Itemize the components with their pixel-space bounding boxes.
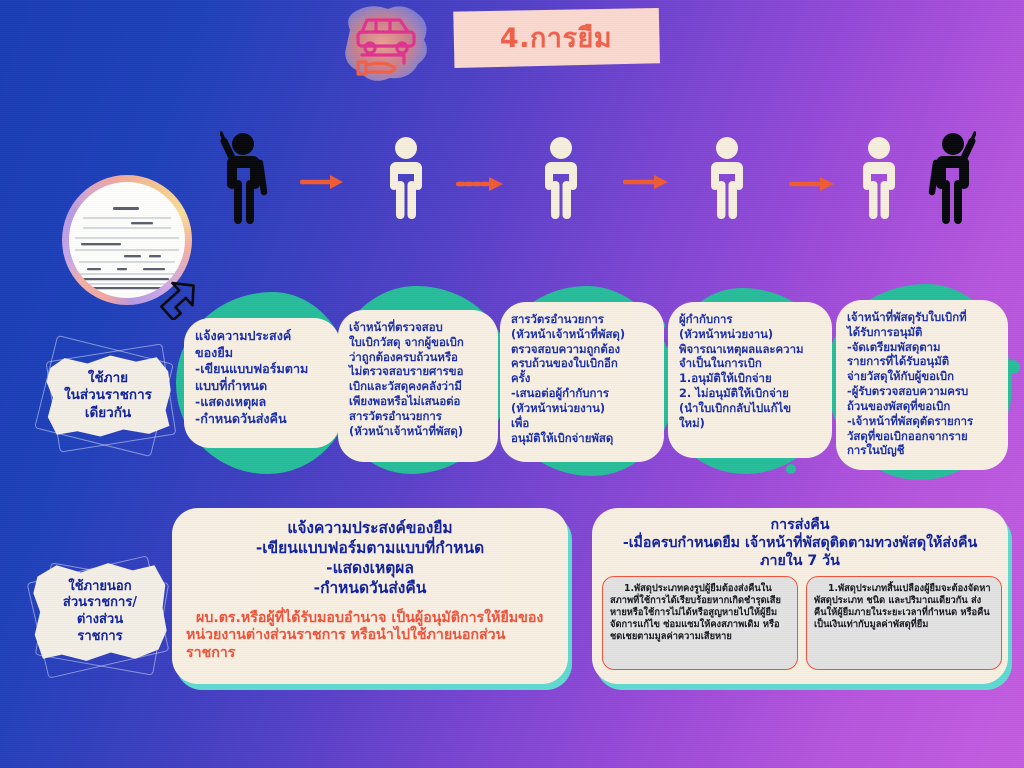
step-5-line-2: ได้รับการอนุมัติ: [847, 325, 999, 340]
label-external-text: ใช้ภายนอก ส่วนราชการ/ ต่างส่วน ราชการ: [63, 579, 137, 646]
flow-arrow-4: [789, 174, 837, 194]
step-1-line-2: ของยืม: [195, 345, 331, 362]
step-3-line-3: ตรวจสอบความถูกต้อง: [511, 342, 655, 357]
step-2-line-6: เพียงพอหรือไม่เสนอต่อ: [349, 394, 489, 409]
bottom-left-header-4: -กำหนดวันส่งคืน: [186, 578, 554, 598]
step-3-line-7: (หัวหน้าหน่วยงาน): [511, 401, 655, 416]
step-1-line-4: แบบที่กำหนด: [195, 378, 331, 395]
bottom-left-header-2: -เขียนแบบฟอร์มตามแบบที่กำหนด: [186, 538, 554, 558]
step-5-line-10: การในบัญชี: [847, 443, 999, 458]
step-2-line-4: ไม่ตรวจสอบรายศารขอ: [349, 364, 489, 379]
bottom-left-header-1: แจ้งความประสงค์ของยืม: [186, 518, 554, 538]
step-4-line-3: พิจารณาเหตุผลและความ: [679, 342, 823, 357]
page-title: 4.การยืม: [500, 25, 612, 52]
step-3-line-1: สารวัตรอำนวยการ: [511, 312, 655, 327]
step-1-line-5: -แสดงเหตุผล: [195, 394, 331, 411]
step-3-line-5: ครั้ง: [511, 371, 655, 386]
step-card-1: แจ้งความประสงค์ ของยืม -เขียนแบบฟอร์มตาม…: [184, 318, 340, 448]
bottom-right-header-1: การส่งคืน: [602, 516, 998, 534]
bottom-right-card: การส่งคืน -เมื่อครบกำหนดยืม เจ้าหน้าที่พ…: [592, 508, 1008, 684]
step-5-line-7: ถ้วนของพัสดุที่ขอเบิก: [847, 399, 999, 414]
step-5-line-3: -จัดเตรียมพัสดุตาม: [847, 340, 999, 355]
step-4-line-2: (หัวหน้าหน่วยงาน): [679, 327, 823, 342]
step-2-line-5: เบิกและวัสดุคงคลังว่ามี: [349, 379, 489, 394]
figure-officer-1: [388, 136, 424, 220]
step-2-line-7: สารวัตรอำนวยการ: [349, 409, 489, 424]
return-rules-row: 1.พัสดุประเภทคงรูปผู้ยืมต้องส่งคืนในสภาพ…: [602, 576, 1002, 670]
blob-dot-6: [786, 464, 796, 474]
label-internal: ใช้ภาย ในส่วนราชการ เดียวกัน: [44, 352, 172, 440]
step-2-line-8: (หัวหน้าเจ้าหน้าที่พัสดุ): [349, 424, 489, 439]
step-1-line-1: แจ้งความประสงค์: [195, 328, 331, 345]
bottom-right-header-3: ภายใน 7 วัน: [602, 552, 998, 570]
step-2-line-2: ใบเบิกวัสดุ จากผู้ขอเบิก: [349, 335, 489, 350]
figure-officer-2: [543, 136, 579, 220]
flow-arrow-3: [623, 172, 671, 192]
blob-dot-7: [1006, 360, 1020, 374]
infographic-canvas: 4.การยืม: [0, 0, 1024, 768]
step-4-line-7: (นำใบเบิกกลับไปแก้ไข: [679, 401, 823, 416]
step-4-line-4: จำเป็นในการเบิก: [679, 356, 823, 371]
step-4-line-8: ใหม่): [679, 416, 823, 431]
bottom-left-body: ผบ.ตร.หรือผู้ที่ได้รับมอบอำนาจ เป็นผู้อน…: [186, 610, 554, 663]
step-4-line-6: 2. ไม่อนุมัติให้เบิกจ่าย: [679, 386, 823, 401]
step-3-line-4: ครบถ้วนของใบเบิกอีก: [511, 356, 655, 371]
step-5-line-9: วัสดุที่ขอเบิกออกจากราย: [847, 429, 999, 444]
step-2-line-1: เจ้าหน้าที่ตรวจสอบ: [349, 320, 489, 335]
flow-arrow-1: [300, 172, 346, 192]
step-5-line-4: รายการที่ได้รับอนุมัติ: [847, 354, 999, 369]
step-card-3: สารวัตรอำนวยการ (หัวหน้าเจ้าหน้าที่พัสดุ…: [500, 302, 664, 462]
figure-teacher-right: [928, 130, 976, 225]
subbox-durable-goods: 1.พัสดุประเภทคงรูปผู้ยืมต้องส่งคืนในสภาพ…: [602, 576, 798, 670]
step-5-line-1: เจ้าหน้าที่พัสดุรับใบเบิกที่: [847, 310, 999, 325]
car-handover-icon: [332, 0, 452, 85]
step-1-line-6: -กำหนดวันส่งคืน: [195, 411, 331, 428]
step-3-line-8: เพื่อ: [511, 416, 655, 431]
step-4-line-5: 1.อนุมัติให้เบิกจ่าย: [679, 371, 823, 386]
label-internal-text: ใช้ภาย ในส่วนราชการ เดียวกัน: [64, 370, 152, 422]
step-5-line-6: -ผู้รับตรวจสอบความครบ: [847, 384, 999, 399]
step-card-2: เจ้าหน้าที่ตรวจสอบ ใบเบิกวัสดุ จากผู้ขอเ…: [338, 310, 498, 462]
step-card-5: เจ้าหน้าที่พัสดุรับใบเบิกที่ ได้รับการอน…: [836, 300, 1008, 470]
step-3-line-2: (หัวหน้าเจ้าหน้าที่พัสดุ): [511, 327, 655, 342]
figure-officer-3: [709, 136, 745, 220]
step-1-line-3: -เขียนแบบฟอร์มตาม: [195, 361, 331, 378]
page-title-banner: 4.การยืม: [452, 8, 660, 68]
figure-teacher-left: [220, 130, 268, 225]
step-5-line-8: -เจ้าหน้าที่พัสดุตัดรายการ: [847, 414, 999, 429]
step-2-line-3: ว่าถูกต้องครบถ้วนหรือ: [349, 350, 489, 365]
bottom-right-header-2: -เมื่อครบกำหนดยืม เจ้าหน้าที่พัสดุติดตาม…: [602, 534, 998, 552]
hand-drawn-down-right-arrow: [156, 272, 208, 320]
figure-officer-4: [861, 136, 897, 220]
label-external: ใช้ภายนอก ส่วนราชการ/ ต่างส่วน ราชการ: [32, 560, 168, 664]
step-4-line-1: ผู้กำกับการ: [679, 312, 823, 327]
step-3-line-6: -เสนอต่อผู้กำกับการ: [511, 386, 655, 401]
step-5-line-5: จ่ายวัสดุให้กับผู้ขอเบิก: [847, 369, 999, 384]
step-card-4: ผู้กำกับการ (หัวหน้าหน่วยงาน) พิจารณาเหต…: [668, 302, 832, 458]
step-3-line-9: อนุมัติให้เบิกจ่ายพัสดุ: [511, 431, 655, 446]
bottom-left-header-3: -แสดงเหตุผล: [186, 558, 554, 578]
bottom-left-card: แจ้งความประสงค์ของยืม -เขียนแบบฟอร์มตามแ…: [172, 508, 568, 684]
flow-arrow-2: [456, 174, 506, 194]
subbox-consumable-goods: 1.พัสดุประเภทสิ้นเปลืองผู้ยืมจะต้องจัดหา…: [806, 576, 1002, 670]
